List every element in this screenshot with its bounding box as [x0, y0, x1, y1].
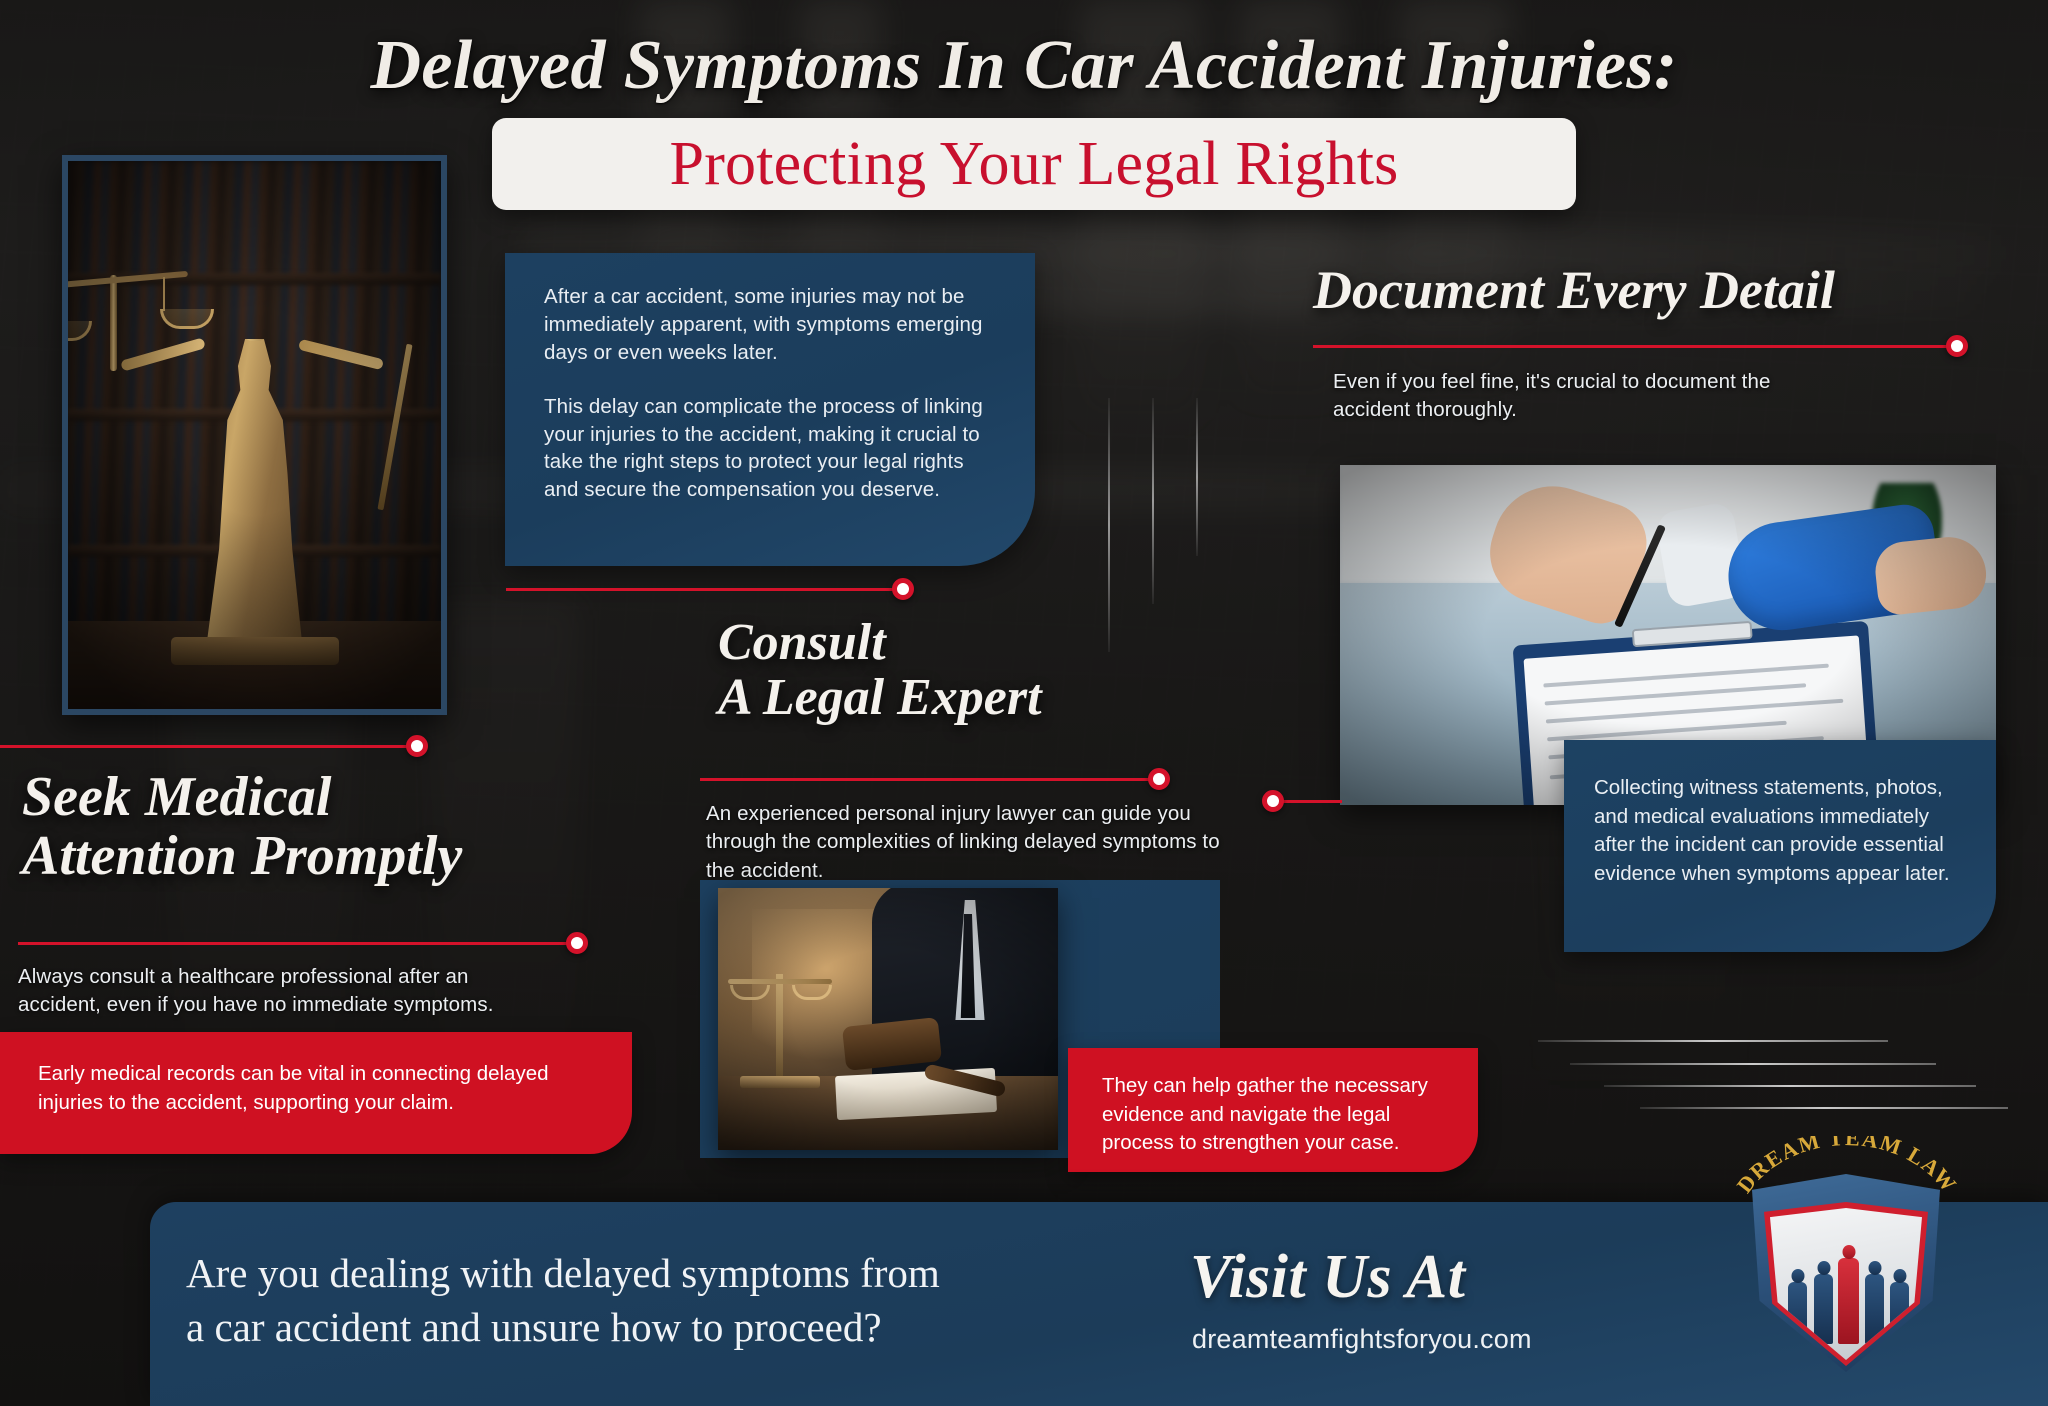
decorative-vertical-line — [1108, 398, 1110, 652]
seek-body-text: Always consult a healthcare professional… — [18, 963, 538, 1020]
justice-statue-photo — [62, 155, 447, 715]
footer-question: Are you dealing with delayed symptoms fr… — [186, 1246, 1116, 1354]
seek-top-rule — [0, 745, 420, 748]
seek-bottom-dot — [566, 932, 588, 954]
document-section-rule — [1313, 345, 1953, 348]
consult-body-text: An experienced personal injury lawyer ca… — [706, 800, 1246, 885]
consult-callout-text: They can help gather the necessary evide… — [1102, 1074, 1428, 1154]
logo-figure — [1814, 1274, 1833, 1344]
section-heading-seek-medical: Seek Medical Attention Promptly — [22, 768, 462, 887]
consult-bottom-dot — [1148, 768, 1170, 790]
seek-top-dot — [406, 735, 428, 757]
shield-inner-field — [1770, 1208, 1922, 1360]
seek-callout-box: Early medical records can be vital in co… — [0, 1032, 632, 1154]
document-connector-dot — [1262, 790, 1284, 812]
seek-callout-text: Early medical records can be vital in co… — [38, 1062, 549, 1114]
document-callout-text: Collecting witness statements, photos, a… — [1594, 776, 1950, 885]
document-connector-rule — [1278, 800, 1342, 803]
document-body-text: Even if you feel fine, it's crucial to d… — [1333, 368, 1833, 425]
consult-top-rule — [506, 588, 904, 591]
consult-bottom-rule — [700, 778, 1160, 781]
consult-callout-box: They can help gather the necessary evide… — [1068, 1048, 1478, 1172]
dream-team-law-logo: DREAM TEAM LAW ★ ★ ★ ★ ★ — [1722, 1122, 1972, 1382]
subtitle-plate: Protecting Your Legal Rights — [492, 118, 1576, 210]
intro-paragraph-2: This delay can complicate the process of… — [544, 393, 1001, 505]
visit-us-title: Visit Us At — [1190, 1242, 1465, 1313]
intro-paragraph-1: After a car accident, some injuries may … — [544, 283, 1001, 367]
decorative-horizontal-line — [1640, 1107, 2008, 1109]
section-heading-consult-expert: Consult A Legal Expert — [718, 615, 1042, 725]
intro-panel: After a car accident, some injuries may … — [505, 253, 1035, 566]
decorative-horizontal-line — [1604, 1085, 1976, 1087]
seek-bottom-rule — [18, 942, 578, 945]
page-title: Delayed Symptoms In Car Accident Injurie… — [0, 26, 2048, 106]
consult-top-dot — [892, 578, 914, 600]
decorative-vertical-line — [1196, 398, 1198, 556]
website-url[interactable]: dreamteamfightsforyou.com — [1192, 1324, 1532, 1355]
document-section-dot — [1946, 335, 1968, 357]
decorative-vertical-line — [1152, 398, 1154, 604]
page-subtitle: Protecting Your Legal Rights — [670, 129, 1399, 200]
decorative-horizontal-line — [1570, 1063, 1936, 1065]
section-heading-document: Document Every Detail — [1313, 262, 1835, 319]
logo-figure-highlight — [1838, 1258, 1859, 1344]
infographic-canvas: Delayed Symptoms In Car Accident Injurie… — [0, 0, 2048, 1406]
gavel-lawyer-photo — [718, 888, 1058, 1150]
decorative-horizontal-line — [1538, 1040, 1888, 1042]
document-callout-box: Collecting witness statements, photos, a… — [1564, 740, 1996, 952]
